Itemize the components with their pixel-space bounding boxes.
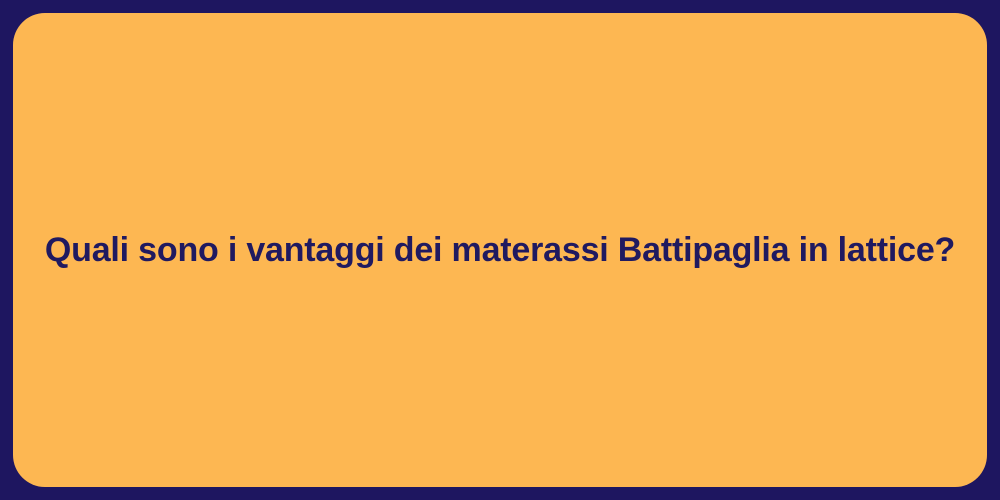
question-card: Quali sono i vantaggi dei materassi Batt…	[13, 13, 987, 487]
page-frame: Quali sono i vantaggi dei materassi Batt…	[0, 0, 1000, 500]
question-headline: Quali sono i vantaggi dei materassi Batt…	[45, 229, 955, 272]
